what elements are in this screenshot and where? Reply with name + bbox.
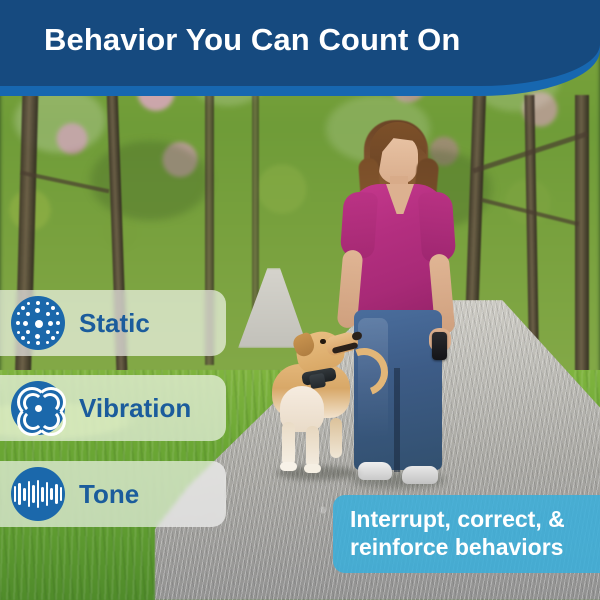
wave-bar	[37, 480, 40, 508]
wave-bar	[50, 488, 53, 500]
feature-pill-static[interactable]: Static	[0, 290, 226, 356]
callout-text: Interrupt, correct, & reinforce behavior…	[350, 506, 565, 561]
dog-leg	[330, 418, 342, 458]
sleeve-left	[340, 191, 379, 259]
jeans-seam	[394, 368, 400, 472]
page-title: Behavior You Can Count On	[44, 22, 460, 58]
vibration-waves-icon	[11, 381, 65, 435]
callout-line-2: reinforce behaviors	[350, 534, 565, 562]
static-burst-icon	[11, 296, 65, 350]
wave-bar	[60, 487, 63, 501]
dog-nose	[351, 331, 363, 341]
wave-arc	[40, 410, 60, 430]
dog-figure	[258, 330, 388, 480]
wave-bar	[14, 486, 17, 502]
remote-trainer-device	[432, 332, 447, 360]
wave-bar	[32, 485, 35, 503]
shoe-right	[402, 466, 438, 484]
sound-wave-bars-icon	[11, 467, 65, 521]
wave-bar	[18, 483, 21, 505]
dog-leg	[306, 426, 319, 468]
feature-label-tone: Tone	[79, 479, 139, 510]
collar-receiver-box	[309, 373, 326, 389]
wave-bar	[23, 488, 26, 501]
dog-paw	[280, 462, 297, 471]
wave-bar	[46, 482, 49, 506]
dog-eye	[320, 339, 326, 344]
sleeve-right	[418, 191, 457, 263]
header-banner: Behavior You Can Count On	[0, 0, 600, 86]
marketing-poster: Behavior You Can Count On	[0, 0, 600, 600]
dog-paw	[304, 464, 321, 473]
feature-label-vibration: Vibration	[79, 393, 191, 424]
dog-leg	[282, 422, 295, 466]
wave-bar	[41, 487, 44, 502]
wave-center-dot	[35, 405, 42, 412]
wave-bar	[28, 481, 31, 507]
feature-label-static: Static	[79, 308, 150, 339]
callout-box: Interrupt, correct, & reinforce behavior…	[333, 495, 600, 573]
callout-line-1: Interrupt, correct, &	[350, 506, 565, 534]
tree-trunk	[575, 95, 589, 415]
feature-pill-tone[interactable]: Tone	[0, 461, 226, 527]
wave-bar	[55, 484, 58, 504]
feature-pill-vibration[interactable]: Vibration	[0, 375, 226, 441]
